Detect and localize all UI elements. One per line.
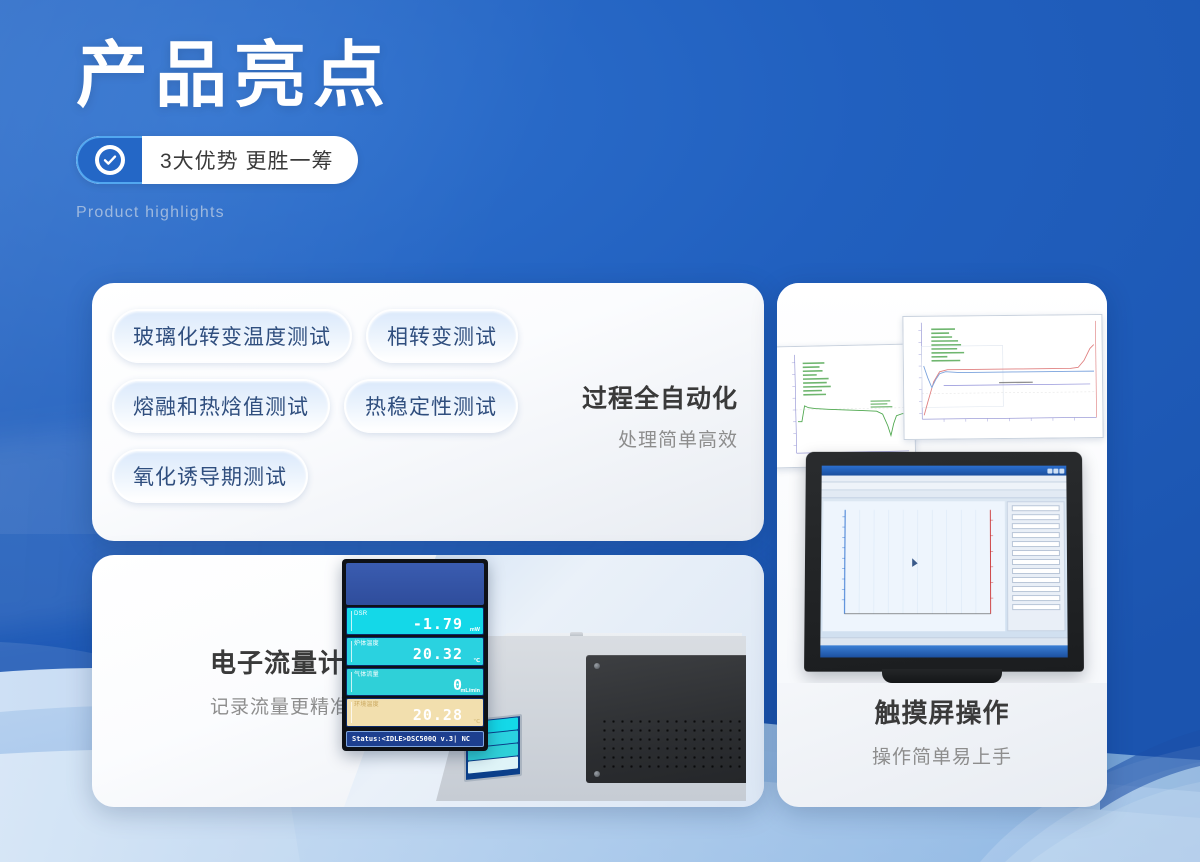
side-panel-field[interactable] — [1012, 505, 1060, 511]
software-plot-svg — [822, 501, 1005, 631]
hmi-row-value: 20.28 — [413, 706, 463, 724]
touchscreen-caption-sub: 操作简单易上手 — [777, 742, 1107, 769]
window-titlebar[interactable] — [822, 466, 1067, 476]
flowmeter-caption-title: 电子流量计 — [210, 643, 350, 680]
window-tabbar[interactable] — [821, 490, 1066, 498]
flowmeter-caption-sub: 记录流量更精准 — [210, 692, 350, 719]
side-panel-field[interactable] — [1012, 568, 1060, 574]
window-close-icon[interactable] — [1059, 468, 1064, 473]
touchscreen-caption: 触摸屏操作 操作简单易上手 — [777, 693, 1107, 769]
panel-screw — [594, 771, 600, 777]
test-pill-row: 玻璃化转变温度测试 相转变测试 — [112, 309, 562, 363]
side-panel-field[interactable] — [1012, 586, 1060, 592]
instrument-vent-grille — [600, 717, 764, 769]
check-circle-icon — [95, 145, 125, 175]
hmi-row-dsr: DSR -1.79 mW — [346, 607, 484, 636]
touchscreen-caption-title: 触摸屏操作 — [777, 693, 1107, 730]
badge-label: 3大优势 更胜一筹 — [142, 136, 358, 184]
automation-caption-title: 过程全自动化 — [508, 379, 738, 415]
badge-icon-container — [76, 136, 142, 184]
side-panel-field[interactable] — [1012, 514, 1060, 520]
flowmeter-caption: 电子流量计 记录流量更精准 — [210, 643, 350, 719]
test-pill-row: 熔融和热焓值测试 热稳定性测试 — [112, 379, 562, 433]
software-plot-area — [822, 501, 1005, 631]
chart-screenshot-a — [777, 344, 916, 469]
instrument-front-panel — [586, 655, 764, 783]
hmi-row-unit: ℃ — [473, 719, 480, 725]
flowmeter-hmi-panel[interactable]: DSR -1.79 mW 炉体温度 20.32 ℃ 气体流量 0 mL/min … — [342, 559, 488, 751]
page-subtitle-en: Product highlights — [76, 204, 696, 222]
highlight-badge: 3大优势 更胜一筹 — [76, 136, 358, 184]
monitor-stand — [882, 669, 1002, 683]
window-maximize-icon[interactable] — [1053, 468, 1058, 473]
hmi-row-unit: mW — [470, 627, 480, 633]
test-pill[interactable]: 氧化诱导期测试 — [112, 449, 308, 503]
os-taskbar[interactable] — [820, 645, 1067, 657]
side-panel-field[interactable] — [1012, 523, 1060, 529]
test-pill[interactable]: 熔融和热焓值测试 — [112, 379, 330, 433]
monitor-screen[interactable] — [820, 466, 1067, 658]
side-panel-field[interactable] — [1012, 595, 1060, 601]
page-title: 产品亮点 — [76, 38, 696, 116]
hmi-row-gas-flow: 气体流量 0 mL/min — [346, 668, 484, 697]
test-pill-row: 氧化诱导期测试 — [112, 449, 562, 503]
software-side-panel[interactable] — [1007, 501, 1066, 631]
side-panel-field[interactable] — [1012, 604, 1060, 610]
page-header: 产品亮点 3大优势 更胜一筹 Product highlights — [76, 38, 696, 222]
hmi-row-unit: ℃ — [473, 658, 480, 664]
hmi-row-ambient-temp: 环境温度 20.28 ℃ — [346, 698, 484, 727]
side-panel-field[interactable] — [1012, 550, 1060, 556]
side-panel-field[interactable] — [1012, 541, 1060, 547]
panel-screw — [594, 663, 600, 669]
card-automation: 玻璃化转变温度测试 相转变测试 熔融和热焓值测试 热稳定性测试 氧化诱导期测试 … — [92, 283, 764, 541]
chart-screenshot-b — [902, 314, 1103, 440]
test-pill[interactable]: 热稳定性测试 — [344, 379, 518, 433]
hmi-row-furnace-temp: 炉体温度 20.32 ℃ — [346, 637, 484, 666]
chart-b-svg — [903, 315, 1102, 439]
hmi-row-value: 20.32 — [413, 645, 463, 663]
side-panel-field[interactable] — [1012, 559, 1060, 565]
automation-caption: 过程全自动化 处理简单高效 — [508, 379, 738, 452]
side-panel-field[interactable] — [1012, 532, 1060, 538]
touchscreen-monitor[interactable] — [804, 452, 1084, 672]
test-pill-group: 玻璃化转变温度测试 相转变测试 熔融和热焓值测试 热稳定性测试 氧化诱导期测试 — [112, 309, 562, 519]
hmi-row-value: -1.79 — [413, 615, 463, 633]
software-statusbar — [820, 637, 1067, 645]
window-minimize-icon[interactable] — [1047, 468, 1052, 473]
side-panel-field[interactable] — [1012, 577, 1060, 583]
window-toolbar[interactable] — [822, 482, 1067, 490]
test-pill[interactable]: 相转变测试 — [366, 309, 518, 363]
hmi-row-unit: mL/min — [460, 688, 480, 694]
test-pill[interactable]: 玻璃化转变温度测试 — [112, 309, 352, 363]
automation-caption-sub: 处理简单高效 — [508, 425, 738, 452]
window-menubar[interactable] — [822, 476, 1067, 483]
hmi-header-area — [346, 563, 484, 605]
hmi-status-bar: Status:<IDLE>DSC500Q v.3| NC — [346, 731, 484, 747]
touchscreen-photo — [777, 283, 1107, 683]
card-flowmeter: 电子流量计 记录流量更精准 DSR — [92, 555, 764, 807]
card-touchscreen: 触摸屏操作 操作简单易上手 — [777, 283, 1107, 807]
chart-a-svg — [777, 345, 915, 468]
